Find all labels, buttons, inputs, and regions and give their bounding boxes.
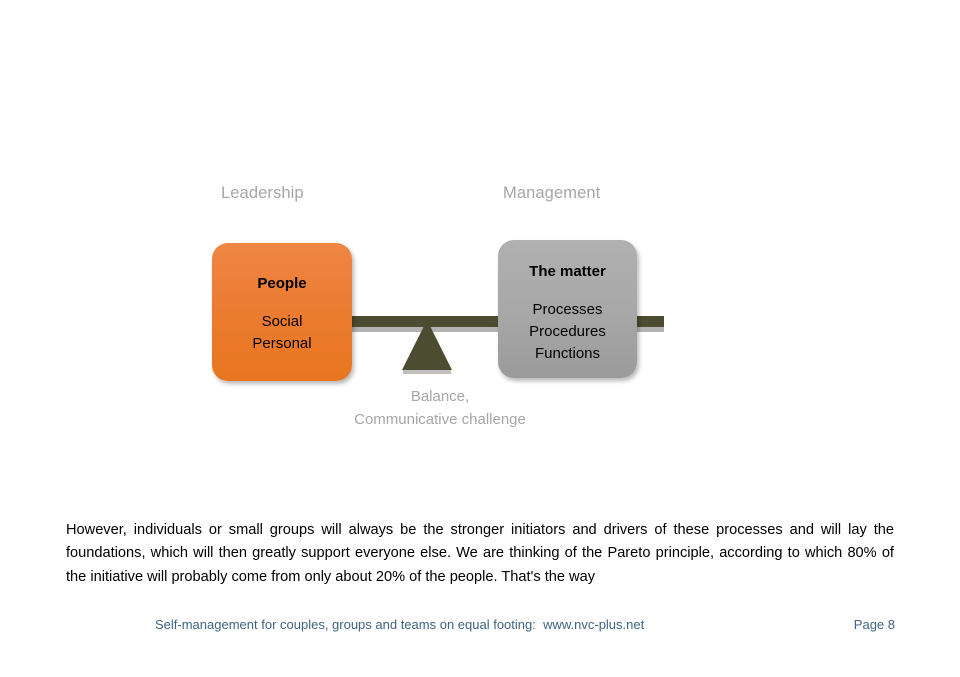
footer-page-number: Page 8 xyxy=(854,617,895,632)
people-box-lines: Social Personal xyxy=(212,311,352,355)
fulcrum-base xyxy=(403,370,451,374)
fulcrum-triangle-shape xyxy=(402,320,452,370)
faint-artifact-marks: ·· xyxy=(228,220,358,234)
fulcrum-triangle-icon xyxy=(402,320,452,370)
body-paragraph: However, individuals or small groups wil… xyxy=(66,519,894,590)
footer-source-text: Self-management for couples, groups and … xyxy=(155,617,644,632)
people-box-line-1: Social xyxy=(212,311,352,333)
diagram-box-people: People Social Personal xyxy=(212,243,352,381)
matter-box-line-1: Processes xyxy=(498,299,637,321)
document-page: Leadership Management ·· People Social P… xyxy=(0,0,960,677)
matter-box-title: The matter xyxy=(498,263,637,280)
matter-box-lines: Processes Procedures Functions xyxy=(498,299,637,365)
diagram-label-management: Management xyxy=(503,184,600,203)
page-footer: Self-management for couples, groups and … xyxy=(155,617,895,635)
diagram-caption: Balance, Communicative challenge xyxy=(280,385,600,431)
diagram-box-the-matter: The matter Processes Procedures Function… xyxy=(498,240,637,378)
people-box-line-2: Personal xyxy=(212,333,352,355)
matter-box-line-2: Procedures xyxy=(498,321,637,343)
matter-box-line-3: Functions xyxy=(498,343,637,365)
diagram-label-leadership: Leadership xyxy=(221,184,304,203)
diagram-caption-line-2: Communicative challenge xyxy=(280,408,600,431)
balance-scale-diagram: Leadership Management ·· People Social P… xyxy=(180,170,700,440)
people-box-title: People xyxy=(212,275,352,292)
diagram-caption-line-1: Balance, xyxy=(280,385,600,408)
